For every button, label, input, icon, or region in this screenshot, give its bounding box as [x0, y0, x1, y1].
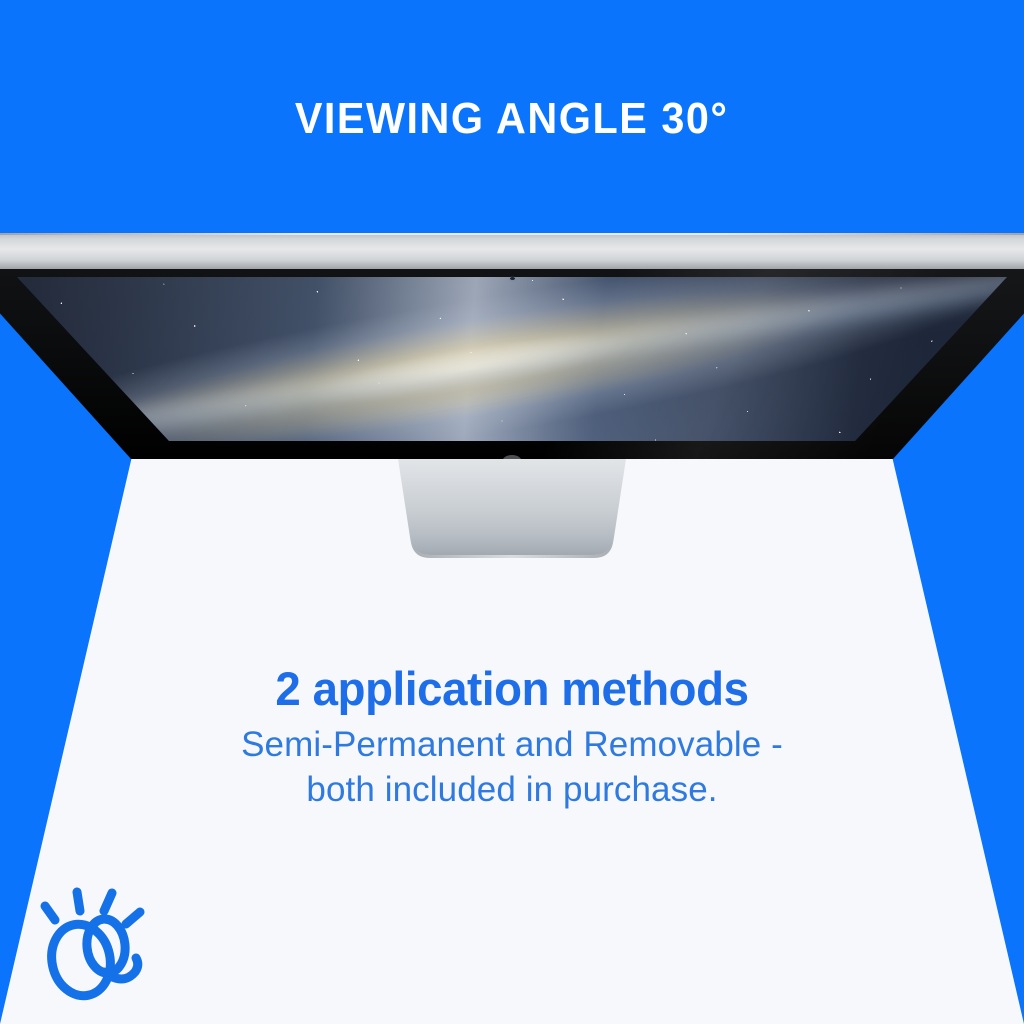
- monitor-aluminum-top-bezel: [0, 233, 1024, 271]
- copy-heading: 2 application methods: [15, 664, 1008, 715]
- copy-subtitle-line-1: Semi-Permanent and Removable -: [0, 723, 1024, 768]
- brand-logo: [28, 872, 164, 1004]
- imac-monitor: [0, 233, 1024, 563]
- copy-block: 2 application methods Semi-Permanent and…: [0, 664, 1024, 812]
- logo-outer-loop: [45, 919, 117, 1001]
- logo-ray-upper-left: [77, 892, 80, 911]
- copy-subtitle-line-2: both included in purchase.: [0, 768, 1024, 813]
- facetime-camera-icon: [510, 277, 515, 280]
- header-banner: VIEWING ANGLE 30°: [0, 0, 1024, 234]
- logo-ray-left: [45, 906, 55, 920]
- logo-ray-upper-right: [104, 893, 112, 911]
- monitor-stand: [0, 459, 1024, 563]
- monitor-stand-foot: [392, 459, 632, 555]
- logo-ray-right: [126, 912, 140, 924]
- header-title: VIEWING ANGLE 30°: [295, 93, 729, 141]
- product-feature-card: VIEWING ANGLE 30°: [0, 0, 1024, 1024]
